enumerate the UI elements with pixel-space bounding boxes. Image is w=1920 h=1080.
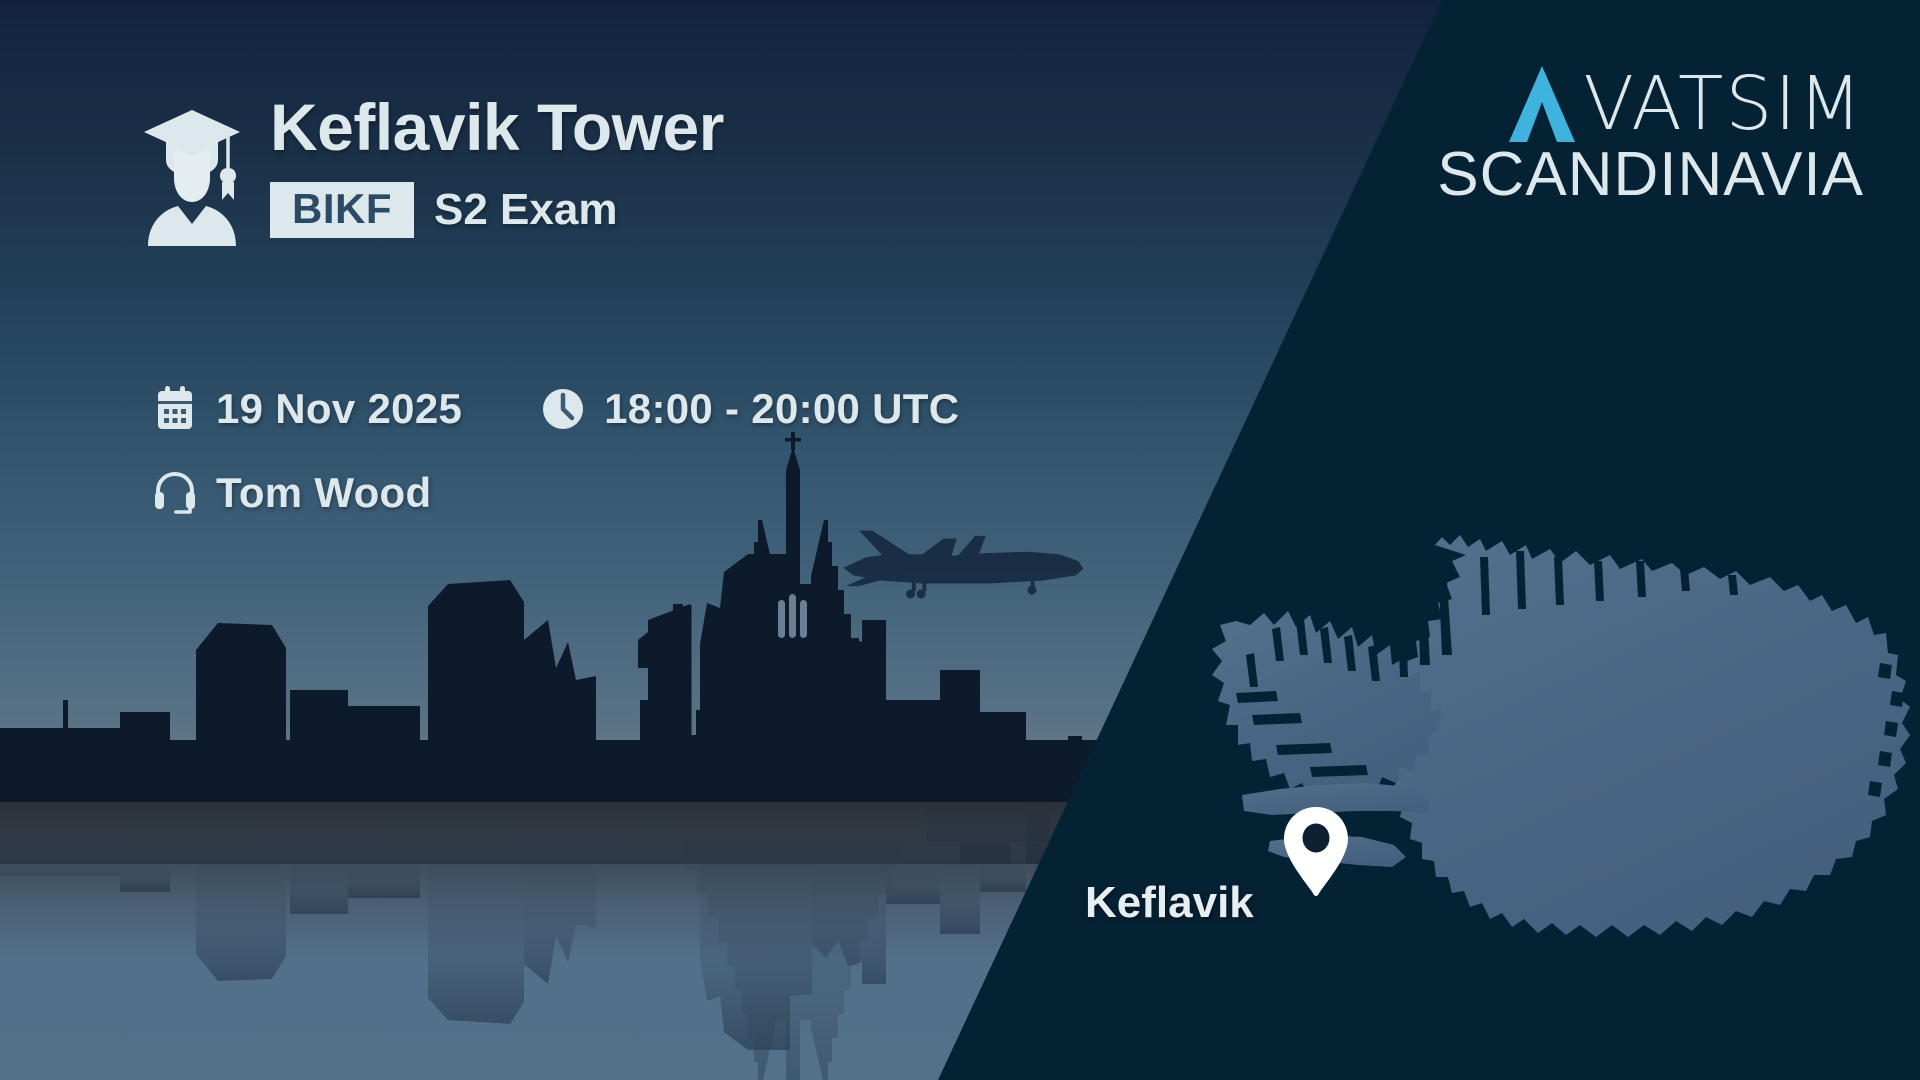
map-city-label: Keflavik	[1085, 878, 1254, 928]
meta-date: 19 Nov 2025	[152, 385, 462, 433]
event-time: 18:00 - 20:00 UTC	[604, 385, 959, 433]
meta-time: 18:00 - 20:00 UTC	[540, 385, 959, 433]
headset-icon	[152, 470, 198, 516]
iceland-map	[1180, 505, 1920, 1005]
calendar-icon	[152, 386, 198, 432]
exam-label: S2 Exam	[434, 185, 617, 235]
graduation-student-icon	[140, 96, 244, 246]
logo-text-scandinavia: SCANDINAVIA	[1437, 142, 1864, 207]
page-title: Keflavik Tower	[270, 94, 724, 160]
event-banner: Keflavik Keflavik Tower BIKF S2 Exam	[0, 0, 1920, 1080]
meta-instructor: Tom Wood	[152, 469, 431, 517]
instructor-name: Tom Wood	[216, 469, 431, 517]
meta-row-datetime: 19 Nov 2025 18:00 - 20:00 UTC	[152, 385, 959, 433]
vatsim-scandinavia-logo: VATSIM SCANDINAVIA	[1437, 62, 1864, 207]
title-subrow: BIKF S2 Exam	[270, 182, 724, 238]
event-meta: 19 Nov 2025 18:00 - 20:00 UTC	[152, 385, 959, 553]
logo-primary-row: VATSIM	[1437, 62, 1864, 146]
icao-badge: BIKF	[270, 182, 414, 238]
meta-row-instructor: Tom Wood	[152, 469, 959, 517]
vatsim-chevron-icon	[1505, 62, 1579, 146]
clock-icon	[540, 386, 586, 432]
logo-text-vatsim: VATSIM	[1583, 69, 1864, 139]
location-pin-icon	[1280, 805, 1352, 899]
event-date: 19 Nov 2025	[216, 385, 462, 433]
event-header: Keflavik Tower BIKF S2 Exam	[140, 88, 724, 246]
